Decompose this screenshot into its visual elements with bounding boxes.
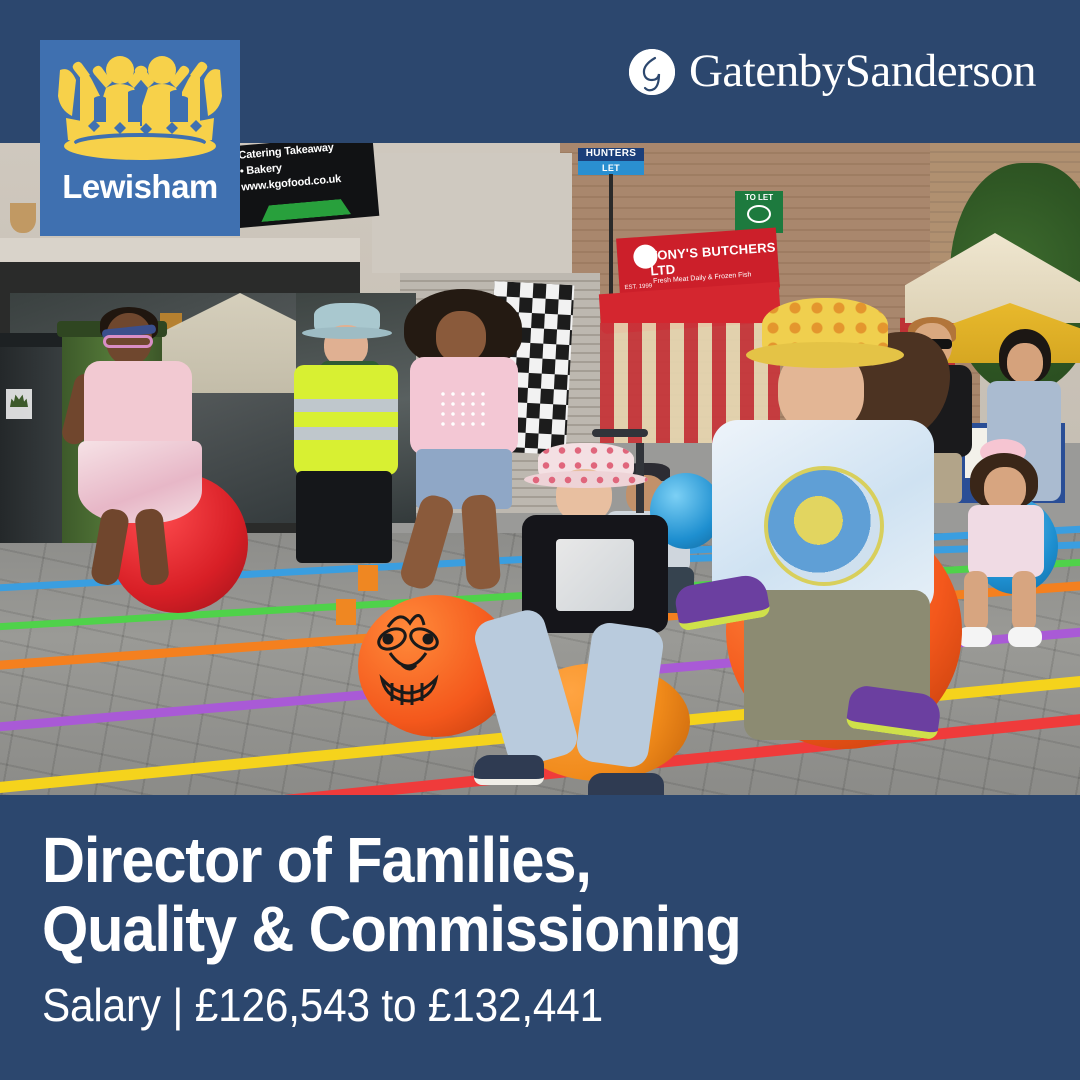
crown-icon (58, 54, 222, 164)
wall-panel (372, 153, 572, 273)
footer-band: Director of Families, Quality & Commissi… (0, 795, 1080, 1080)
jeans-right (575, 621, 666, 770)
face (436, 311, 486, 363)
pendant-lamp-2 (10, 203, 36, 233)
to-let-ring-icon (747, 205, 771, 223)
salary-line: Salary | £126,543 to £132,441 (42, 980, 962, 1031)
head (1007, 343, 1043, 383)
pink-glasses-icon (103, 335, 153, 348)
recruitment-poster: Catering Takeaway • Bakery www.kgofood.c… (0, 0, 1080, 1080)
hunters-sign: HUNTERS LET (578, 148, 644, 174)
tshirt-graphic (764, 466, 884, 586)
child-on-red-hopper (72, 313, 222, 543)
gs-swirl-icon (629, 49, 675, 95)
kgo-green-arrow (260, 198, 351, 222)
tshirt-print (438, 389, 488, 429)
sign-pole (609, 174, 613, 304)
trouser-tag-2 (336, 599, 356, 625)
teen-on-large-hopper (690, 298, 950, 768)
agency-name: GatenbySanderson (689, 48, 1036, 95)
tshirt (84, 361, 192, 451)
bin-crown-icon (6, 389, 32, 419)
hunters-status: LET (578, 161, 644, 175)
child-on-blue-hopper (950, 443, 1060, 693)
reflective-stripe-1 (294, 399, 398, 412)
work-trousers (296, 471, 392, 563)
hat-brim (746, 342, 904, 368)
child-in-floral-hat (500, 443, 690, 773)
leg-left (964, 571, 988, 631)
festival-photo: Catering Takeaway • Bakery www.kgofood.c… (0, 143, 1080, 795)
wheelie-bin-black (0, 343, 70, 543)
hunters-title: HUNTERS (578, 148, 644, 160)
council-name: Lewisham (40, 168, 240, 206)
to-let-sign: TO LET (735, 191, 783, 233)
hat-brim-pattern (524, 471, 648, 488)
leg-right (461, 494, 501, 590)
trainer-right (1008, 627, 1042, 647)
leg-right (1012, 571, 1036, 631)
gatenbysanderson-logo[interactable]: GatenbySanderson (629, 48, 1036, 95)
folding-chair-back (592, 429, 648, 437)
reflective-stripe-2 (294, 427, 398, 440)
trainer-left (958, 627, 992, 647)
tshirt-graphic (556, 539, 634, 611)
job-title: Director of Families, Quality & Commissi… (42, 826, 972, 964)
kgo-catering-sign: Catering Takeaway • Bakery www.kgofood.c… (233, 143, 380, 228)
hi-vis-vest (294, 365, 398, 475)
hat-brim (302, 327, 392, 339)
tshirt (968, 505, 1044, 577)
lewisham-council-logo[interactable]: Lewisham (40, 40, 240, 236)
plimsoll-right (588, 773, 664, 795)
trouser-tag-1 (358, 565, 378, 591)
to-let-title: TO LET (735, 193, 783, 203)
plimsoll-left (474, 755, 544, 785)
